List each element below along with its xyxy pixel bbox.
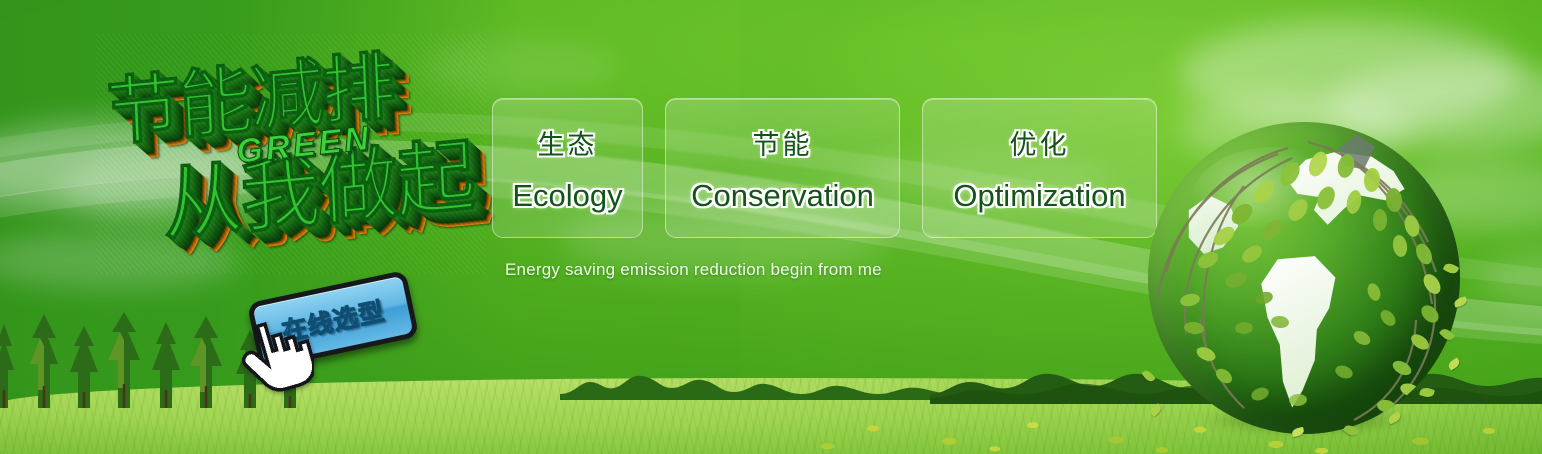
title-artwork: 节能减排 从我做起 GREEN [96,34,486,274]
feature-card-title-cn: 优化 [1010,123,1070,162]
pointer-hand-icon [240,316,314,394]
feature-card-conservation[interactable]: 节能 Conservation [665,98,900,238]
feature-card-title-cn: 节能 [753,123,813,162]
feature-card-title-en: Ecology [512,178,622,214]
globe-sphere [1148,122,1460,434]
feature-card-title-cn: 生态 [538,123,598,162]
leaf-covered-globe [1148,122,1460,434]
falling-leaf-icon [1419,386,1435,399]
feature-card-title-en: Conservation [691,178,874,214]
banner-tagline: Energy saving emission reduction begin f… [505,260,882,280]
feature-card-list: 生态 Ecology 节能 Conservation 优化 Optimizati… [492,98,1157,238]
online-selection-cta[interactable]: 在线选型 [252,278,422,368]
feature-card-title-en: Optimization [953,178,1125,214]
falling-leaf-icon [1447,357,1461,370]
continent-south-america [1251,256,1354,409]
feature-card-optimization[interactable]: 优化 Optimization [922,98,1157,238]
globe-highlight [1192,147,1354,253]
feature-card-ecology[interactable]: 生态 Ecology [492,98,643,238]
eco-banner: 节能减排 从我做起 GREEN 在线选型 生态 Ecology 节能 Conse… [0,0,1542,454]
